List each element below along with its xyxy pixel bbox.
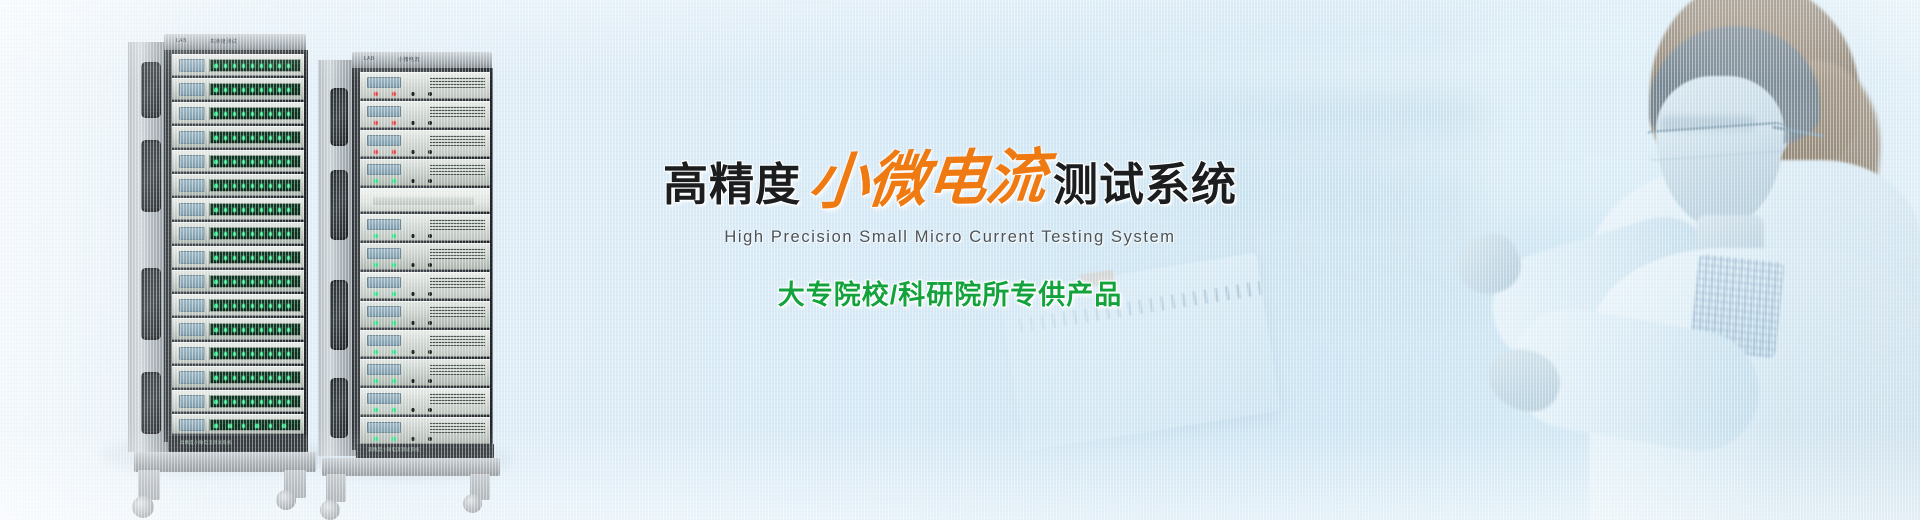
rack-left-model-label: 高精度测试 bbox=[210, 38, 237, 45]
unit-channel-strip bbox=[209, 323, 301, 336]
unit-module bbox=[172, 270, 304, 292]
unit-module bbox=[360, 243, 490, 270]
unit-display bbox=[179, 83, 205, 96]
unit-module bbox=[172, 318, 304, 340]
unit-module bbox=[360, 101, 490, 128]
unit-module bbox=[360, 272, 490, 299]
unit-module bbox=[360, 330, 490, 357]
unit-terminal-row bbox=[370, 379, 435, 384]
unit-module bbox=[172, 126, 304, 148]
unit-module bbox=[360, 388, 490, 415]
unit-module bbox=[360, 301, 490, 328]
headline-highlight: 小微电流 bbox=[806, 147, 1048, 213]
unit-display bbox=[367, 364, 401, 375]
unit-module bbox=[360, 188, 490, 212]
unit-display bbox=[179, 323, 205, 336]
unit-vent bbox=[430, 135, 485, 146]
unit-display bbox=[367, 135, 401, 146]
banner-headline: 高精度 小微电流 测试系统 bbox=[640, 150, 1260, 210]
unit-module bbox=[172, 174, 304, 196]
rack-right-caster-rear bbox=[463, 494, 482, 513]
unit-display bbox=[179, 131, 205, 144]
unit-module bbox=[172, 390, 304, 412]
unit-module bbox=[360, 159, 490, 186]
instrument-rack-right: LAB 小微电流 bbox=[318, 30, 493, 520]
unit-display bbox=[179, 251, 205, 264]
unit-module bbox=[360, 359, 490, 386]
rack-right-foot-left bbox=[326, 474, 346, 502]
rack-left-caster-rear bbox=[276, 490, 296, 510]
unit-channel-strip bbox=[209, 419, 301, 431]
unit-channel-strip bbox=[209, 251, 301, 264]
unit-channel-strip bbox=[209, 371, 301, 384]
unit-channel-strip bbox=[209, 347, 301, 360]
unit-terminal-row bbox=[370, 150, 435, 155]
unit-terminal-row bbox=[370, 179, 435, 184]
unit-display bbox=[179, 395, 205, 408]
unit-display bbox=[179, 179, 205, 192]
unit-terminal-row bbox=[370, 408, 435, 413]
unit-display bbox=[179, 227, 205, 240]
unit-vent bbox=[430, 277, 485, 288]
unit-vent bbox=[430, 77, 485, 88]
unit-display bbox=[367, 422, 401, 433]
unit-channel-strip bbox=[209, 275, 301, 288]
banner-tagline: 大专院校/科研院所专供产品 bbox=[640, 273, 1260, 312]
unit-terminal-row bbox=[370, 292, 435, 297]
unit-display bbox=[367, 335, 401, 346]
unit-module bbox=[172, 294, 304, 316]
unit-module bbox=[172, 246, 304, 268]
unit-module bbox=[172, 342, 304, 364]
unit-display bbox=[179, 299, 205, 312]
unit-vent bbox=[430, 219, 485, 230]
unit-channel-strip bbox=[209, 203, 301, 216]
unit-vent bbox=[430, 106, 485, 117]
banner-subtitle-english: High Precision Small Micro Current Testi… bbox=[640, 228, 1260, 247]
unit-module bbox=[172, 222, 304, 244]
rack-left-slot-0 bbox=[141, 62, 161, 118]
unit-channel-strip bbox=[209, 155, 301, 168]
unit-vent bbox=[430, 306, 485, 317]
unit-vent bbox=[430, 335, 485, 346]
instrument-rack-left: LAB 高精度测试 bbox=[128, 20, 308, 520]
unit-vent bbox=[430, 164, 485, 175]
unit-display bbox=[179, 203, 205, 216]
unit-module bbox=[172, 414, 304, 434]
rack-right-slot-2 bbox=[330, 280, 348, 350]
unit-display bbox=[367, 393, 401, 404]
unit-display bbox=[179, 371, 205, 384]
unit-terminal-row bbox=[370, 321, 435, 326]
unit-vent bbox=[430, 422, 485, 433]
unit-channel-strip bbox=[209, 83, 301, 96]
unit-channel-strip bbox=[209, 59, 301, 72]
unit-display bbox=[367, 106, 401, 117]
unit-module bbox=[172, 198, 304, 220]
rack-left-slot-3 bbox=[141, 372, 161, 434]
unit-display bbox=[179, 155, 205, 168]
rack-left-base-label: 高精度小微电流测试系统 bbox=[180, 440, 232, 446]
unit-channel-strip bbox=[209, 131, 301, 144]
unit-module bbox=[172, 102, 304, 124]
rack-left-module-stack bbox=[172, 54, 304, 434]
rack-right-slot-0 bbox=[330, 88, 348, 146]
unit-terminal-row bbox=[370, 437, 435, 442]
unit-vent bbox=[430, 393, 485, 404]
unit-display bbox=[179, 419, 205, 431]
unit-display bbox=[367, 219, 401, 230]
unit-module bbox=[360, 417, 490, 444]
rack-right-slot-1 bbox=[330, 170, 348, 240]
unit-channel-strip bbox=[209, 179, 301, 192]
rack-left-brand-label: LAB bbox=[176, 38, 187, 44]
rack-left-slot-2 bbox=[141, 268, 161, 340]
unit-display bbox=[179, 275, 205, 288]
unit-terminal-row bbox=[370, 350, 435, 355]
unit-channel-strip bbox=[209, 299, 301, 312]
rack-left-base-frame bbox=[134, 452, 316, 472]
unit-module bbox=[360, 130, 490, 157]
unit-display bbox=[179, 347, 205, 360]
unit-display bbox=[367, 164, 401, 175]
unit-module bbox=[172, 366, 304, 388]
headline-part-3: 测试系统 bbox=[1053, 162, 1237, 207]
unit-display bbox=[367, 77, 401, 88]
promo-banner: LAB 高精度测试 bbox=[0, 0, 1920, 520]
unit-display bbox=[367, 277, 401, 288]
rack-right-brand-label: LAB bbox=[364, 56, 375, 62]
rack-right-module-stack bbox=[360, 72, 490, 444]
unit-display bbox=[179, 59, 205, 72]
headline-part-1: 高精度 bbox=[663, 162, 801, 207]
instrument-racks: LAB 高精度测试 bbox=[0, 0, 520, 520]
rack-right-caster-front bbox=[320, 500, 340, 520]
unit-channel-strip bbox=[209, 107, 301, 120]
banner-copy: 高精度 小微电流 测试系统 High Precision Small Micro… bbox=[640, 150, 1260, 312]
unit-terminal-row bbox=[370, 234, 435, 239]
unit-module bbox=[360, 72, 490, 99]
unit-display bbox=[179, 107, 205, 120]
unit-terminal-row bbox=[370, 263, 435, 268]
unit-vent bbox=[430, 248, 485, 259]
unit-module bbox=[360, 214, 490, 241]
rack-right-model-label: 小微电流 bbox=[398, 56, 420, 63]
unit-module bbox=[172, 150, 304, 172]
unit-display bbox=[367, 248, 401, 259]
rack-right-base-label: 高精度小微电流测试系统 bbox=[368, 447, 420, 453]
unit-vent bbox=[430, 364, 485, 375]
unit-display bbox=[367, 306, 401, 317]
rack-right-slot-3 bbox=[330, 378, 348, 438]
rack-left-slot-1 bbox=[141, 140, 161, 212]
unit-channel-strip bbox=[209, 395, 301, 408]
unit-terminal-row bbox=[370, 92, 435, 97]
unit-terminal-row bbox=[370, 121, 435, 126]
unit-module bbox=[172, 54, 304, 76]
unit-channel-strip bbox=[209, 227, 301, 240]
rack-left-caster-front bbox=[132, 496, 154, 518]
unit-module bbox=[172, 78, 304, 100]
unit-blank-plate bbox=[373, 197, 474, 205]
